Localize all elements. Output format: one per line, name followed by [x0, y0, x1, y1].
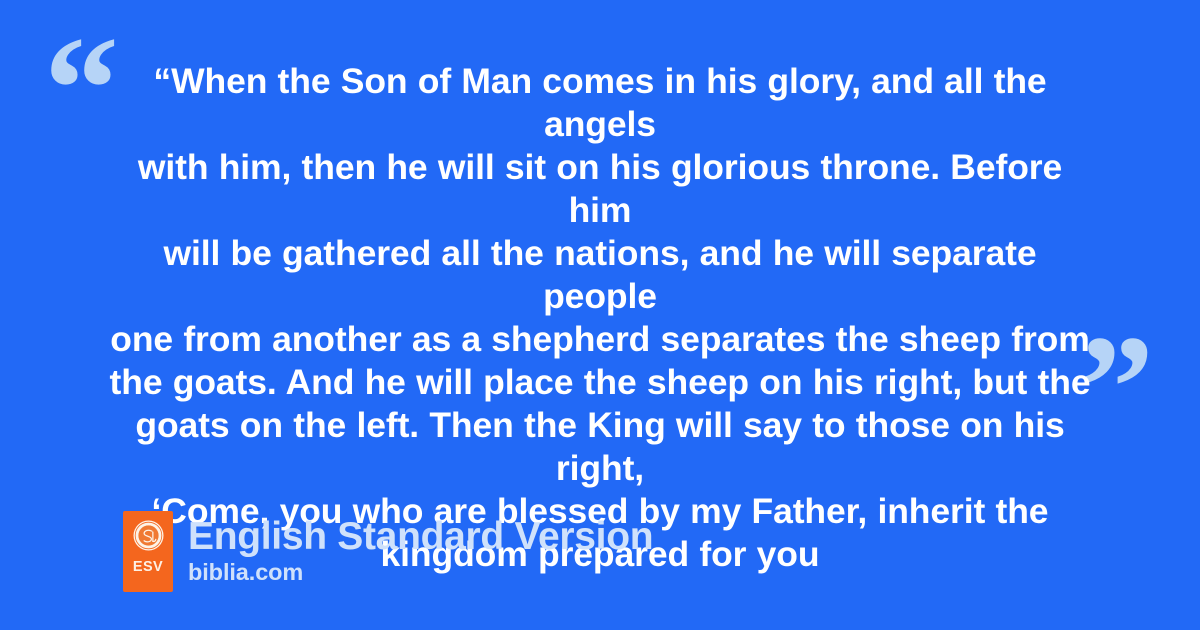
quote-block: “When the Son of Man comes in his glory,…	[105, 60, 1095, 576]
scripture-quote-text: “When the Son of Man comes in his glory,…	[105, 60, 1095, 576]
attribution-text-group: English Standard Version biblia.com	[188, 511, 653, 586]
esv-logo-badge: ESV	[123, 511, 173, 592]
site-url-label: biblia.com	[188, 559, 653, 586]
attribution-footer: ESV English Standard Version biblia.com	[123, 511, 653, 592]
esv-seal-emblem-icon	[133, 520, 164, 551]
esv-badge-label: ESV	[133, 560, 163, 575]
verse-image-card: “ ” “When the Son of Man comes in his gl…	[0, 0, 1200, 630]
bible-version-name: English Standard Version	[188, 515, 653, 558]
